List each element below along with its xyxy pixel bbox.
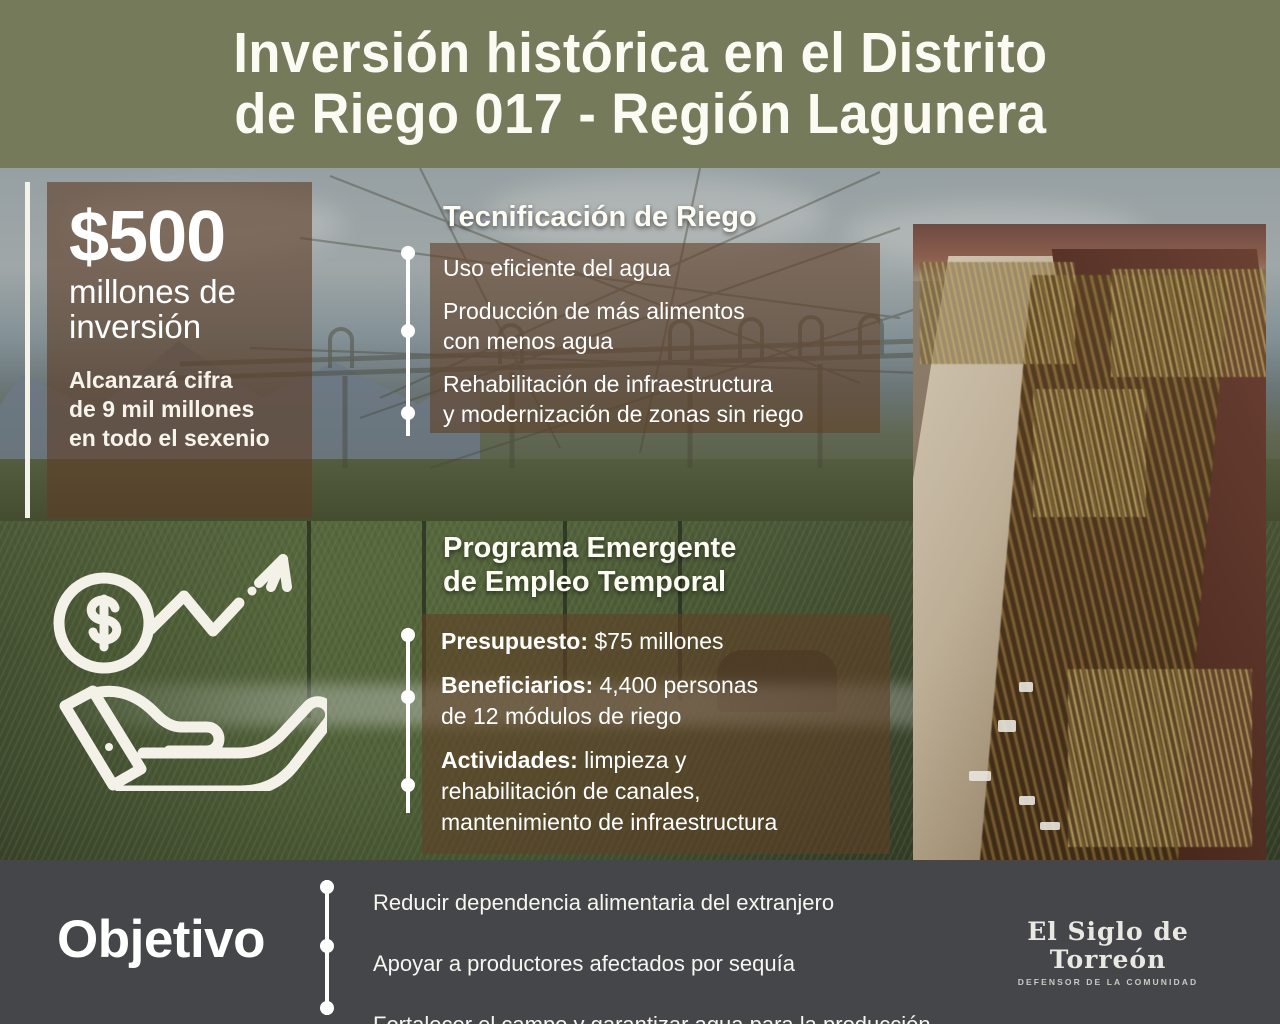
timeline-dot <box>401 324 415 338</box>
timeline-dot <box>320 939 334 953</box>
timeline-programa <box>401 628 415 813</box>
timeline-objetivo <box>320 880 334 1015</box>
list-item-label: Beneficiarios: <box>441 672 593 698</box>
timeline-dot <box>401 246 415 260</box>
canal-grass <box>1068 669 1252 847</box>
section-list-programa: Presupuesto: $75 millones Beneficiarios:… <box>441 626 891 851</box>
trash-item <box>1019 682 1033 692</box>
list-item: Presupuesto: $75 millones <box>441 626 891 657</box>
list-item: Uso eficiente del agua <box>443 253 873 283</box>
timeline-tecnificacion <box>401 246 415 436</box>
infographic-canvas: Inversión histórica en el Distrito de Ri… <box>0 0 1280 1024</box>
list-item-label: Presupuesto: <box>441 628 588 654</box>
list-item: Rehabilitación de infraestructura y mode… <box>443 369 873 429</box>
section-heading-tecnificacion: Tecnificación de Riego <box>443 200 757 234</box>
canal-grass <box>1111 269 1266 377</box>
timeline-dot <box>401 628 415 642</box>
section-list-tecnificacion: Uso eficiente del agua Producción de más… <box>443 253 873 442</box>
list-item: Reducir dependencia alimentaria del extr… <box>373 880 993 925</box>
trash-item <box>998 720 1016 732</box>
hand-holding-money-growth-icon <box>47 541 327 791</box>
publisher-logo: El Siglo de Torreón DEFENSOR DE LA COMUN… <box>988 918 1228 988</box>
investment-amount: $500 <box>69 202 290 272</box>
investment-note: Alcanzará cifra de 9 mil millones en tod… <box>69 366 290 453</box>
trash-item <box>1019 796 1035 805</box>
trash-item <box>969 771 991 781</box>
list-item-label: Actividades: <box>441 747 578 773</box>
list-item: Beneficiarios: 4,400 personas de 12 módu… <box>441 670 891 732</box>
objetivo-label: Objetivo <box>57 912 265 968</box>
page-title: Inversión histórica en el Distrito de Ri… <box>215 23 1066 145</box>
header-banner: Inversión histórica en el Distrito de Ri… <box>0 0 1280 168</box>
left-vertical-rule <box>25 182 30 518</box>
section-heading-programa: Programa Emergente de Empleo Temporal <box>443 531 736 599</box>
list-item: Apoyar a productores afectados por sequí… <box>373 941 993 986</box>
list-item: Actividades: limpieza y rehabilitación d… <box>441 745 891 838</box>
logo-tagline: DEFENSOR DE LA COMUNIDAD <box>988 977 1228 988</box>
timeline-dot <box>320 1001 334 1015</box>
timeline-dot <box>401 690 415 704</box>
list-item: Producción de más alimentos con menos ag… <box>443 296 873 356</box>
trash-item <box>1040 822 1060 830</box>
investment-amount-subtitle: millones de inversión <box>69 274 290 344</box>
timeline-dot <box>320 880 334 894</box>
timeline-dot <box>401 778 415 792</box>
objetivo-list: Reducir dependencia alimentaria del extr… <box>373 880 993 1024</box>
investment-highlight-card: $500 millones de inversión Alcanzará cif… <box>47 182 312 518</box>
list-item: Fortalecer el campo y garantizar agua pa… <box>373 1002 993 1024</box>
list-item-value: $75 millones <box>588 628 724 654</box>
canal-grass <box>920 262 1075 364</box>
timeline-dot <box>401 406 415 420</box>
dry-canal-photo <box>913 224 1266 860</box>
canal-grass <box>1033 389 1146 516</box>
logo-name: El Siglo de Torreón <box>988 918 1228 974</box>
